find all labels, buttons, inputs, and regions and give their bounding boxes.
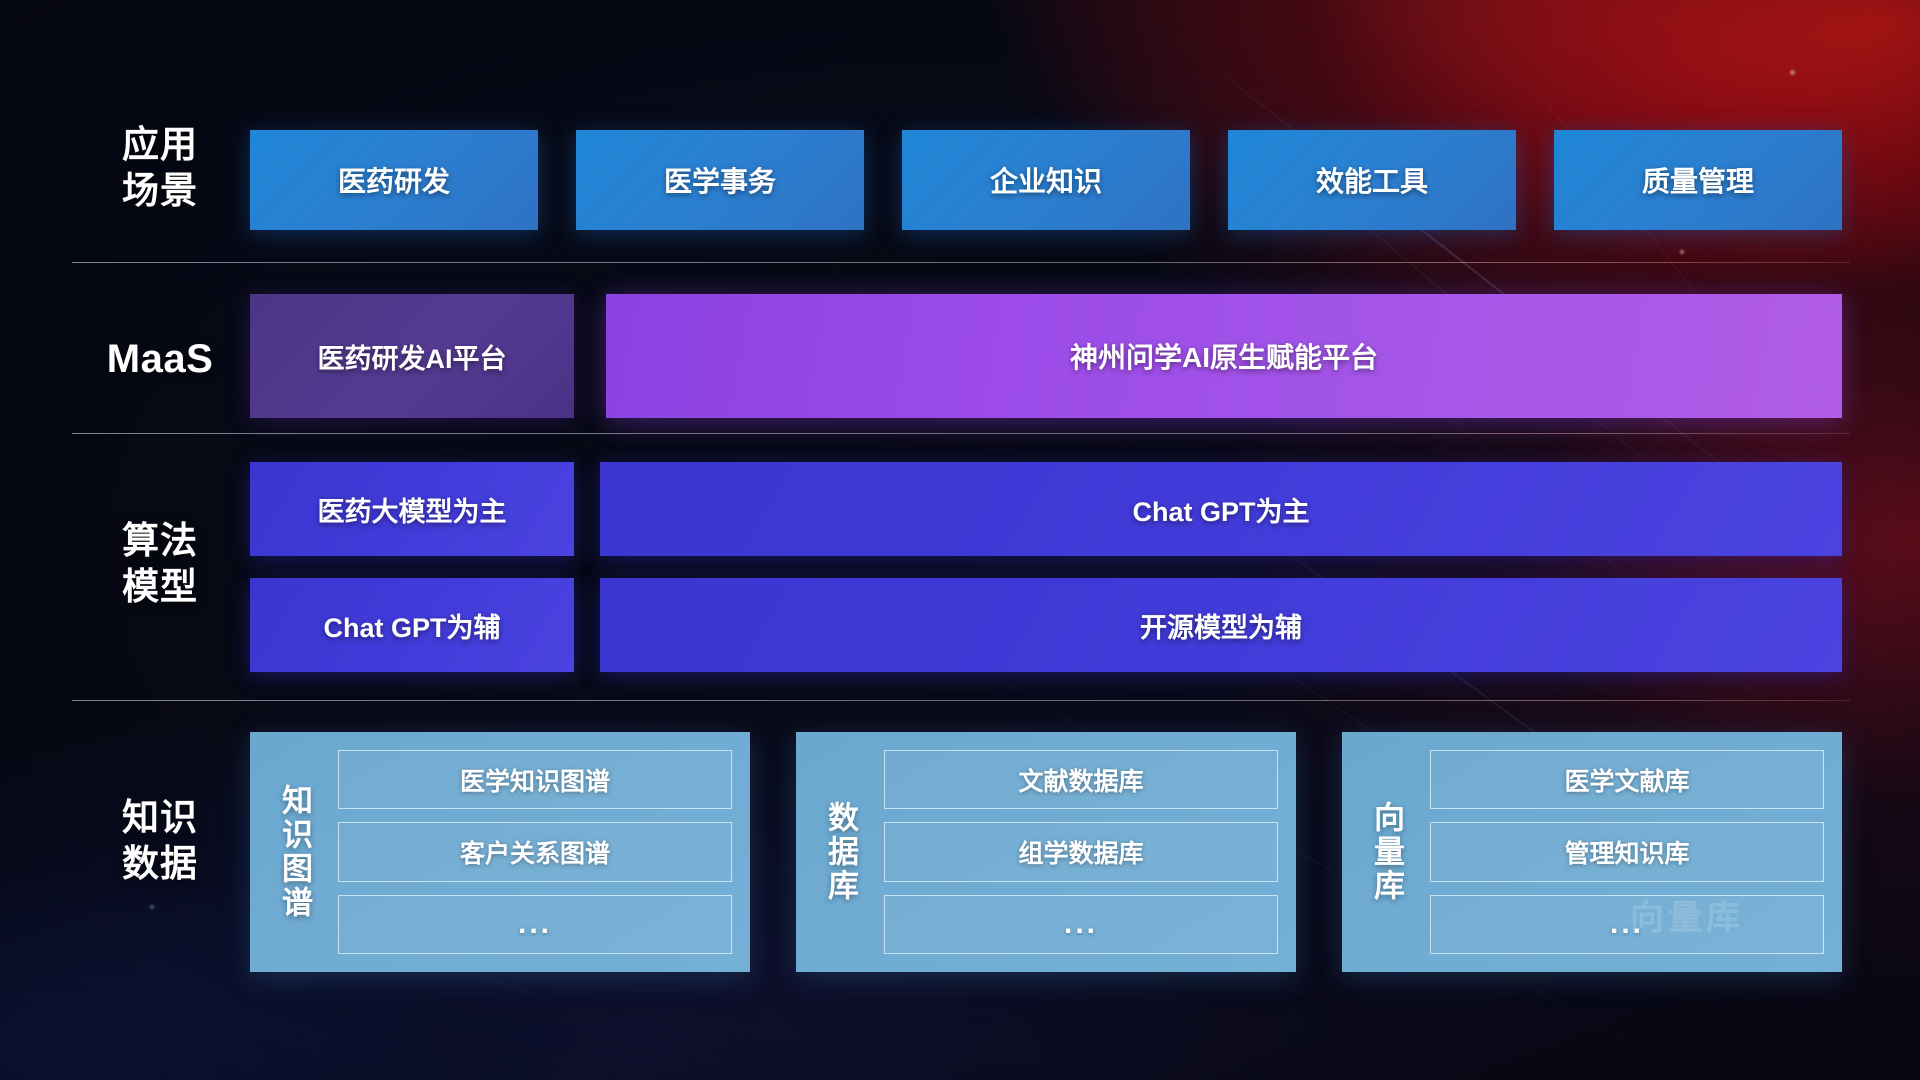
algo-card-label: Chat GPT为辅 (323, 606, 500, 645)
maas-card-shenzhou-wenxue-platform[interactable]: 神州问学AI原生赋能平台 (606, 294, 1842, 418)
app-card-label: 效能工具 (1316, 160, 1428, 200)
app-card-quality-management[interactable]: 质量管理 (1554, 130, 1842, 230)
app-card-label: 质量管理 (1642, 160, 1754, 200)
divider-after-algorithm-row (72, 700, 1850, 701)
knowledge-group-vector-store[interactable]: 向量库 医学文献库 管理知识库 ... 向量库 (1342, 732, 1842, 972)
algo-card-medicine-large-model-primary[interactable]: 医药大模型为主 (250, 462, 574, 556)
algo-card-label: 医药大模型为主 (318, 490, 507, 529)
row-label-knowledge-data: 知识 数据 (72, 795, 248, 887)
maas-card-label: 神州问学AI原生赋能平台 (1070, 336, 1378, 376)
knowledge-item[interactable]: 医学知识图谱 (338, 750, 732, 809)
app-card-medical-affairs[interactable]: 医学事务 (576, 130, 864, 230)
divider-after-application-row (72, 262, 1850, 263)
knowledge-item[interactable]: 文献数据库 (884, 750, 1278, 809)
knowledge-group-title: 知识图谱 (250, 750, 338, 954)
knowledge-group-title: 向量库 (1342, 750, 1430, 954)
algo-card-chatgpt-primary[interactable]: Chat GPT为主 (600, 462, 1842, 556)
app-card-enterprise-knowledge[interactable]: 企业知识 (902, 130, 1190, 230)
algo-card-label: 开源模型为辅 (1140, 606, 1302, 645)
row-label-maas: MaaS (72, 336, 248, 382)
app-card-label: 企业知识 (990, 160, 1102, 200)
app-card-label: 医药研发 (338, 160, 450, 200)
algo-card-label: Chat GPT为主 (1132, 490, 1309, 529)
knowledge-group-item-list: 文献数据库 组学数据库 ... (884, 750, 1278, 954)
app-card-efficiency-tools[interactable]: 效能工具 (1228, 130, 1516, 230)
maas-card-label: 医药研发AI平台 (318, 337, 507, 376)
knowledge-group-item-list: 医学文献库 管理知识库 ... (1430, 750, 1824, 954)
knowledge-group-title: 数据库 (796, 750, 884, 954)
knowledge-item[interactable]: 管理知识库 (1430, 822, 1824, 881)
slide-canvas: 应用 场景 医药研发 医学事务 企业知识 效能工具 质量管理 MaaS 医药研发… (0, 0, 1920, 1080)
app-card-label: 医学事务 (664, 160, 776, 200)
algo-card-opensource-model-secondary[interactable]: 开源模型为辅 (600, 578, 1842, 672)
knowledge-group-knowledge-graph[interactable]: 知识图谱 医学知识图谱 客户关系图谱 ... (250, 732, 750, 972)
knowledge-item[interactable]: 组学数据库 (884, 822, 1278, 881)
knowledge-item[interactable]: 客户关系图谱 (338, 822, 732, 881)
divider-after-maas-row (72, 433, 1850, 434)
row-label-algorithm-models: 算法 模型 (72, 518, 248, 610)
maas-card-medicine-rd-ai-platform[interactable]: 医药研发AI平台 (250, 294, 574, 418)
algo-card-chatgpt-secondary[interactable]: Chat GPT为辅 (250, 578, 574, 672)
knowledge-item-more[interactable]: ... (884, 895, 1278, 954)
knowledge-group-database[interactable]: 数据库 文献数据库 组学数据库 ... (796, 732, 1296, 972)
knowledge-item-more[interactable]: ... (1430, 895, 1824, 954)
knowledge-item-more[interactable]: ... (338, 895, 732, 954)
app-card-medicine-rd[interactable]: 医药研发 (250, 130, 538, 230)
knowledge-item[interactable]: 医学文献库 (1430, 750, 1824, 809)
knowledge-group-item-list: 医学知识图谱 客户关系图谱 ... (338, 750, 732, 954)
row-label-application-scenarios: 应用 场景 (72, 122, 248, 214)
